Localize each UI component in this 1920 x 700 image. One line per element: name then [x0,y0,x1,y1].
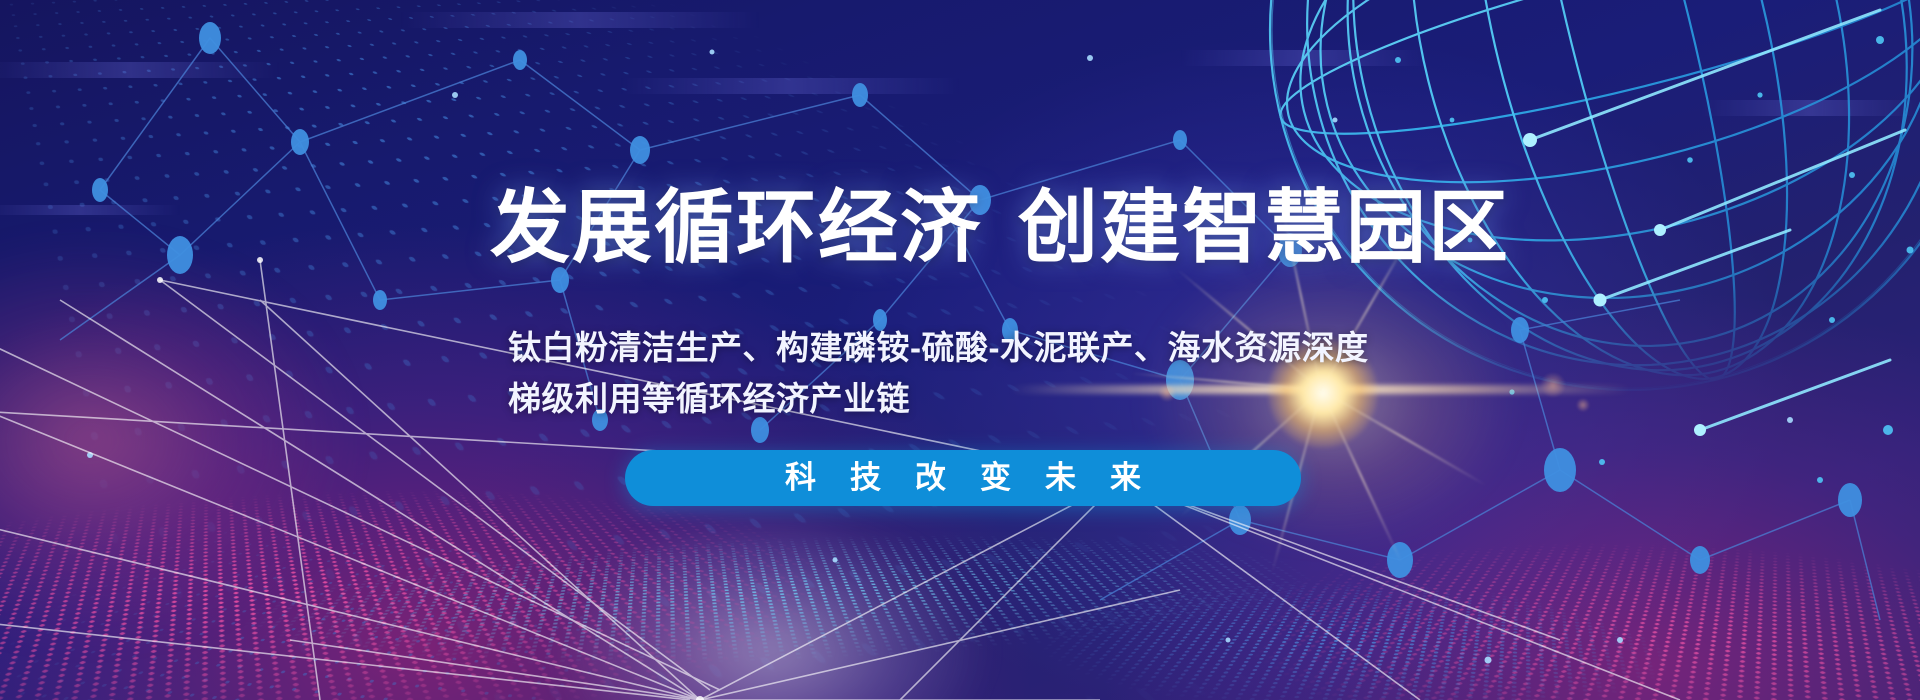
banner-content: 发展循环经济创建智慧园区 钛白粉清洁生产、构建磷铵-硫酸-水泥联产、海水资源深度… [0,0,1920,700]
subtitle-line-1: 钛白粉清洁生产、构建磷铵-硫酸-水泥联产、海水资源深度 [508,322,1368,373]
cta-button[interactable]: 科技改变未来 [625,450,1301,506]
banner-subtitle: 钛白粉清洁生产、构建磷铵-硫酸-水泥联产、海水资源深度 梯级利用等循环经济产业链 [508,322,1368,424]
subtitle-line-2: 梯级利用等循环经济产业链 [508,373,1368,424]
headline-part-left: 发展循环经济 [490,183,982,272]
headline-part-right: 创建智慧园区 [1018,183,1510,272]
banner-headline: 发展循环经济创建智慧园区 [490,188,1510,268]
hero-banner: 发展循环经济创建智慧园区 钛白粉清洁生产、构建磷铵-硫酸-水泥联产、海水资源深度… [0,0,1920,700]
